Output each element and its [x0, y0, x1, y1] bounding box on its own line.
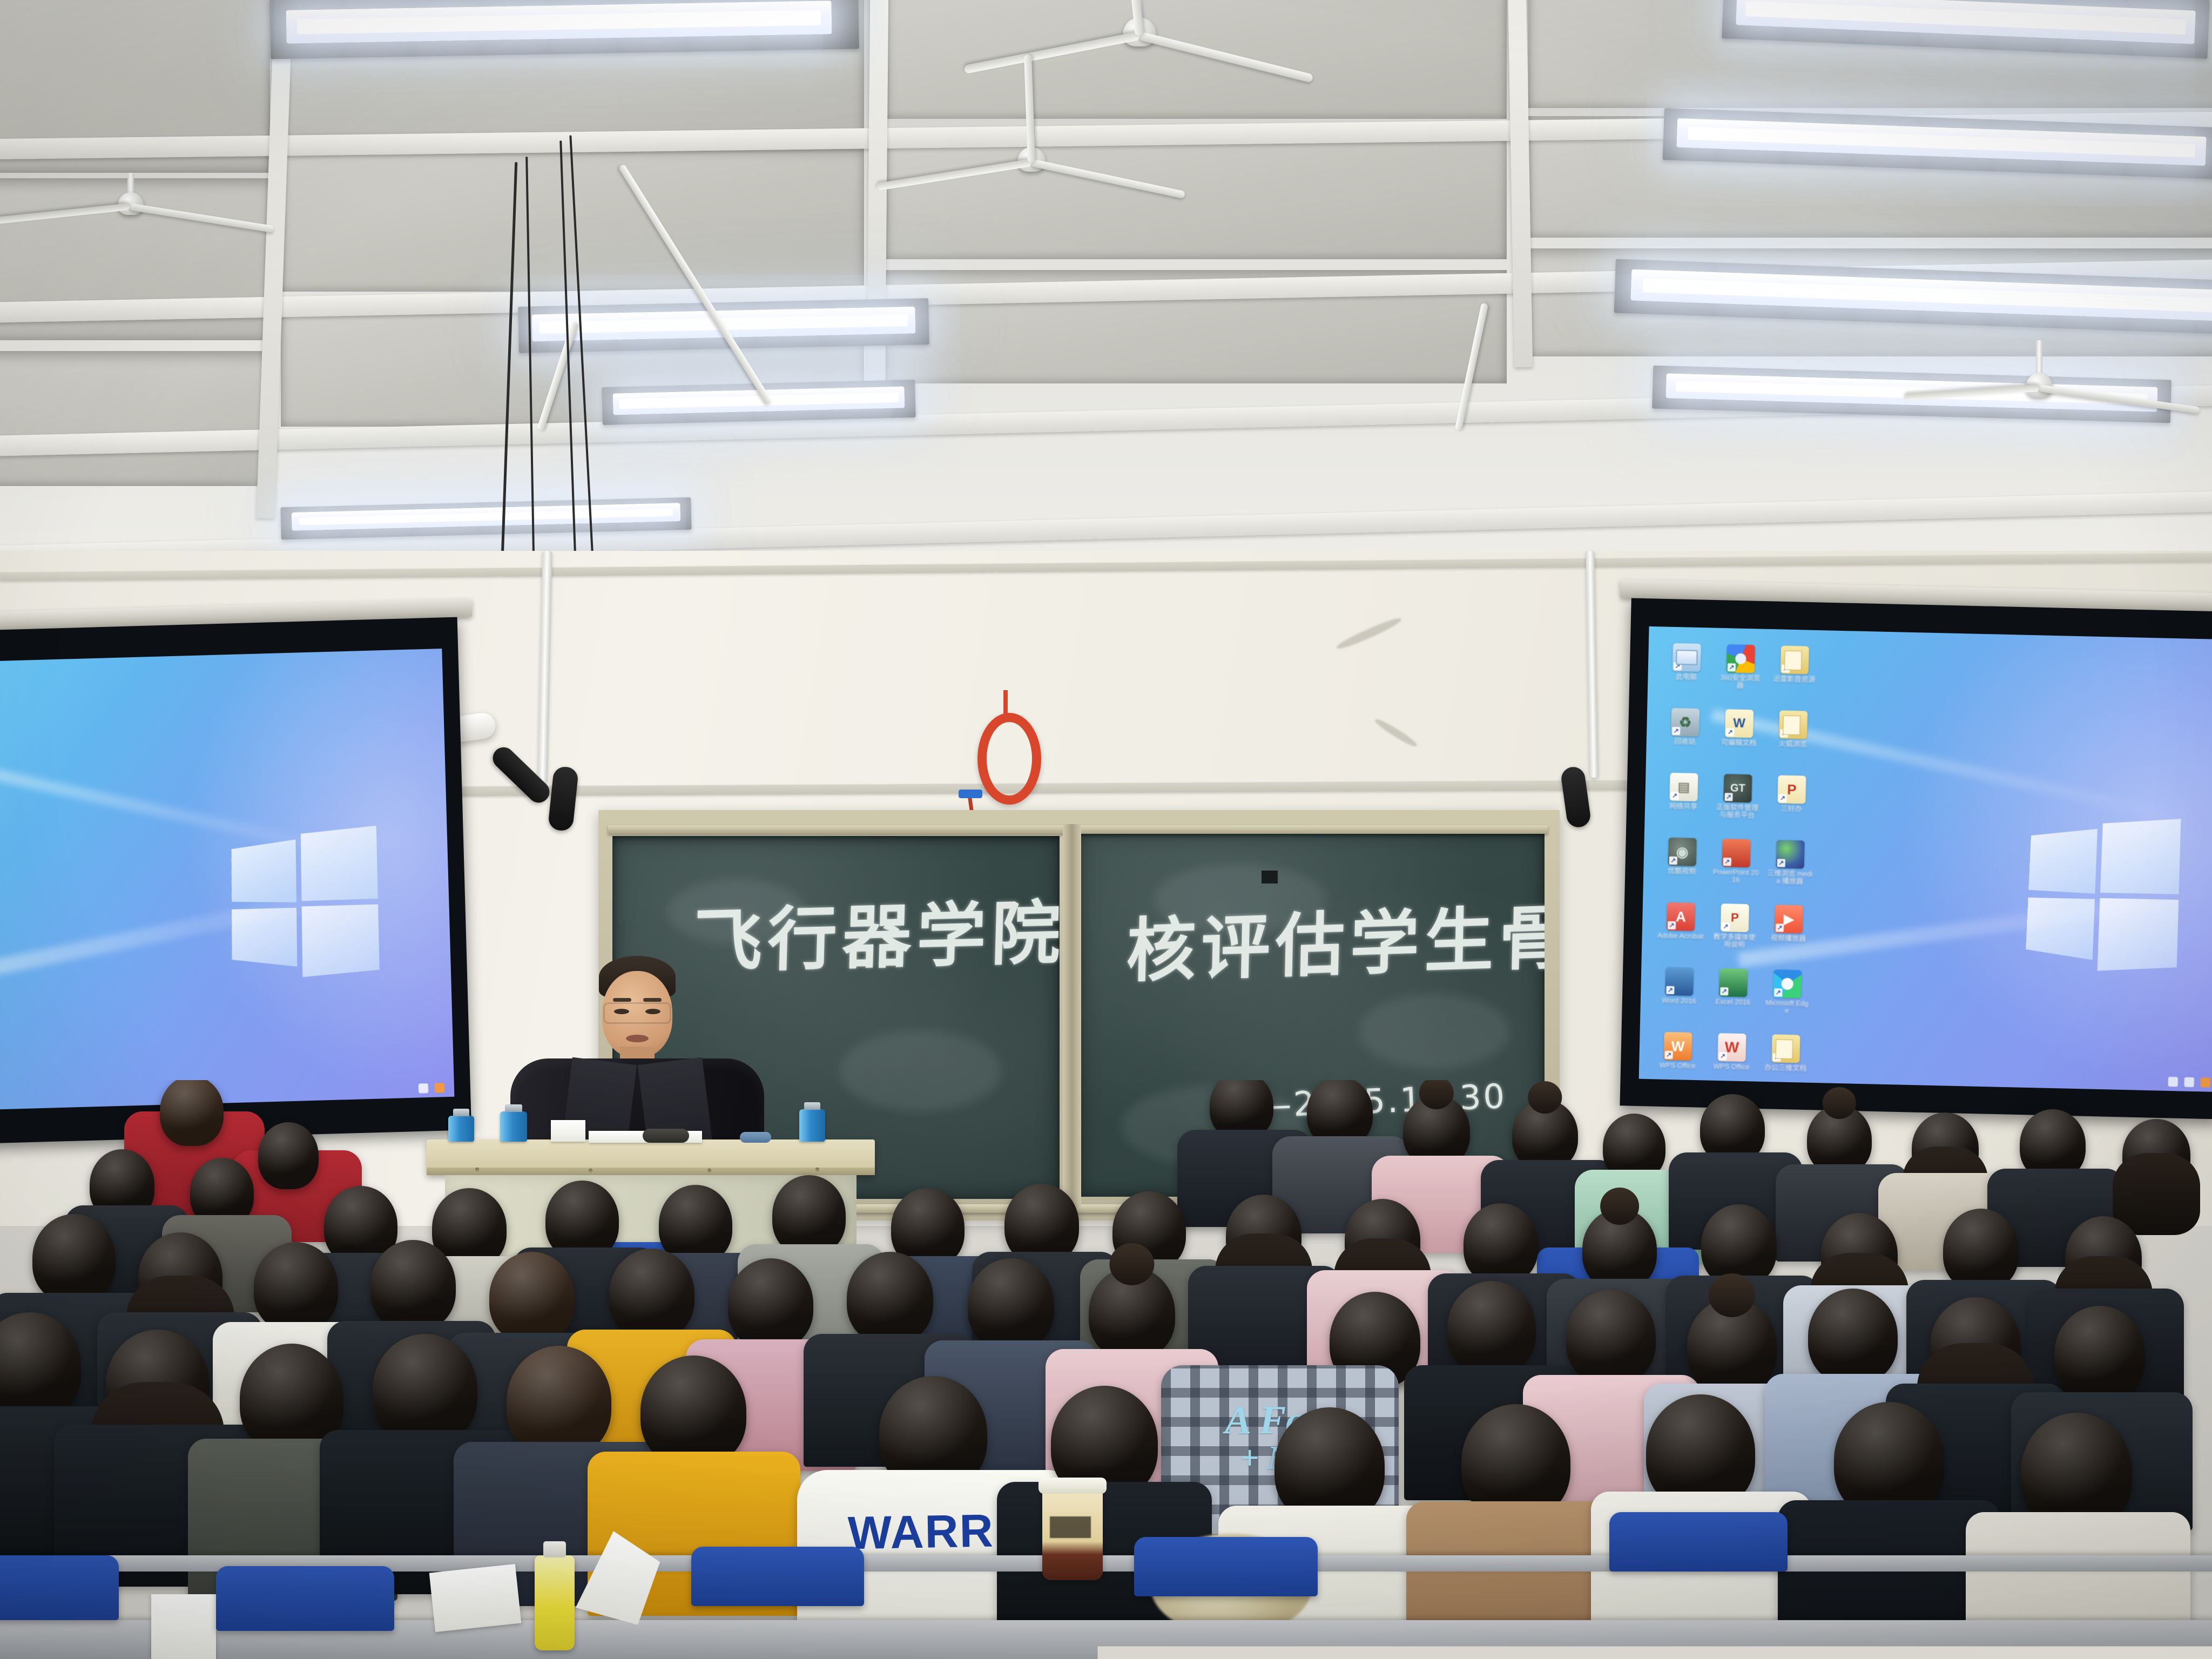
- audience-head: [1566, 1290, 1656, 1385]
- desktop-icon[interactable]: ↗视频播放器: [1764, 905, 1812, 968]
- windows-logo-icon: [2025, 819, 2187, 984]
- audience-head: [370, 1240, 456, 1331]
- desktop-icon-grid[interactable]: ↗此电脑↗360安全浏览器↗迅雷影音资源↗回收站↗可编辑文档↗火狐浏览↗网络共享…: [1654, 643, 1818, 1092]
- lecture-hall-photo: 飞行器学院审 核评估学生骨干动员会 ——2025.10.30: [0, 0, 2212, 1659]
- desktop-icon-label: 视频播放器: [1765, 934, 1811, 943]
- desktop-icon-label: 办公三维文档: [1762, 1064, 1809, 1073]
- ceiling-fan: [0, 173, 248, 248]
- audience-head: [138, 1232, 222, 1322]
- audience-head: [1464, 1203, 1538, 1284]
- shortcut-arrow-icon: ↗: [1782, 664, 1790, 672]
- microphone-icon: [548, 766, 579, 832]
- desktop-icon[interactable]: ↗回收站: [1661, 707, 1709, 771]
- audience-head: [1447, 1281, 1536, 1375]
- presenter-head: [602, 971, 672, 1057]
- desktop-icon[interactable]: ↗此电脑: [1662, 643, 1710, 707]
- film-reel-icon[interactable]: ↗: [1668, 838, 1697, 866]
- audience-head: [1687, 1298, 1777, 1393]
- media-player-icon[interactable]: ↗: [1776, 840, 1805, 868]
- shortcut-arrow-icon: ↗: [1774, 988, 1782, 996]
- presenter-glasses: [603, 1002, 671, 1024]
- desktop-icon[interactable]: ↗优酷视频: [1658, 837, 1706, 901]
- recycle-bin-icon[interactable]: ↗: [1671, 708, 1700, 737]
- microphone-icon: [1560, 765, 1591, 828]
- desktop-icon-label: Microsoft Edge: [1763, 999, 1810, 1015]
- windows-logo-icon: [231, 825, 385, 984]
- fan-blade: [1138, 31, 1313, 83]
- desktop-icon[interactable]: ↗三好办: [1768, 775, 1816, 839]
- pdf-reader-icon[interactable]: ↗: [1667, 902, 1695, 931]
- fan-blade: [876, 159, 1032, 191]
- folder-icon[interactable]: ↗: [1781, 645, 1809, 674]
- wall-scuff: [1335, 615, 1402, 651]
- cable-end: [1003, 690, 1008, 721]
- desktop-icon-label: 网络共享: [1660, 802, 1707, 811]
- chalk-smudge: [1359, 994, 1510, 1069]
- audience-head: [160, 1080, 224, 1146]
- windows-logo-quadrant: [2028, 829, 2098, 894]
- shortcut-arrow-icon: ↗: [1664, 1051, 1673, 1059]
- audience-head: [968, 1258, 1054, 1350]
- shortcut-arrow-icon: ↗: [1777, 859, 1785, 867]
- desktop-icon-label: 可编辑文档: [1716, 739, 1762, 747]
- cup-label: [1050, 1516, 1091, 1538]
- shortcut-arrow-icon: ↗: [1672, 727, 1680, 735]
- audience-head: [640, 1355, 746, 1467]
- chair-back: [1134, 1537, 1318, 1596]
- desktop-icon[interactable]: ↗PowerPoint 2016: [1712, 839, 1760, 902]
- audience-head: [1512, 1100, 1578, 1170]
- wall-scuff: [1373, 717, 1419, 749]
- document-icon[interactable]: ↗: [1779, 710, 1808, 739]
- microphone-pole: [1586, 551, 1598, 778]
- chair-back: [216, 1566, 394, 1631]
- shortcut-arrow-icon: ↗: [1669, 857, 1677, 865]
- desktop-icon-label: 火狐浏览: [1770, 740, 1816, 748]
- chair-back: [1609, 1512, 1788, 1572]
- audience-head: [847, 1252, 933, 1344]
- ppt-card-icon[interactable]: ↗: [1721, 903, 1749, 932]
- ceiling-fan: [864, 124, 1199, 211]
- audience-head: [1943, 1209, 2019, 1291]
- microphone-pole: [537, 551, 552, 783]
- bottle-cap: [543, 1541, 565, 1557]
- audience-head: [32, 1214, 116, 1303]
- ppt-file-icon[interactable]: ↗: [1777, 775, 1806, 804]
- audience-head: [258, 1122, 319, 1189]
- ceiling-fan: [1923, 340, 2212, 421]
- presenter-eye: [645, 1009, 660, 1014]
- bubble-tea-cup: [1042, 1488, 1103, 1580]
- wps-flame-icon[interactable]: ↗: [1663, 1032, 1692, 1061]
- tissue-pack: [429, 1564, 522, 1632]
- desktop-icon[interactable]: ↗教学多媒体使用说明: [1710, 903, 1758, 967]
- left-projection-screen[interactable]: [0, 624, 464, 1137]
- powerpoint-icon[interactable]: ↗: [1722, 839, 1751, 867]
- desktop-icon-label: 迅雷影音资源: [1771, 675, 1817, 684]
- audience-head: [106, 1330, 210, 1439]
- shortcut-arrow-icon: ↗: [1724, 793, 1732, 801]
- audience-head: [1930, 1297, 2021, 1393]
- audience-head: [1582, 1209, 1657, 1290]
- board-hole: [1262, 871, 1278, 884]
- audience-head: [772, 1175, 846, 1255]
- desktop-icon-label: WPS Office: [1654, 1061, 1701, 1070]
- word-document-icon[interactable]: ↗: [1725, 709, 1754, 738]
- gt-platform-icon[interactable]: ↗: [1723, 774, 1752, 802]
- audience-head: [2054, 1306, 2145, 1402]
- shortcut-arrow-icon: ↗: [1666, 986, 1674, 994]
- browser-icon[interactable]: ↗: [1727, 644, 1755, 673]
- presenter-eyebrow: [643, 998, 662, 1002]
- desktop-icon-label: 教学多媒体使用说明: [1711, 933, 1758, 949]
- chair-back: [0, 1555, 119, 1620]
- yellow-drink-bottle: [535, 1555, 575, 1650]
- network-share-icon[interactable]: ↗: [1669, 773, 1698, 801]
- desktop-icon[interactable]: ↗Word 2016: [1655, 967, 1703, 1030]
- audience-head: [373, 1334, 477, 1445]
- ceiling: [0, 0, 2212, 572]
- desktop-icon-label: PowerPoint 2016: [1712, 868, 1759, 885]
- audience-head: [1808, 1289, 1898, 1384]
- desktop-icon[interactable]: ↗Excel 2016: [1709, 968, 1757, 1032]
- shortcut-arrow-icon: ↗: [1726, 728, 1734, 736]
- shortcut-arrow-icon: ↗: [1668, 921, 1676, 929]
- shortcut-arrow-icon: ↗: [1722, 922, 1730, 930]
- wall-trim: [0, 553, 2212, 581]
- desktop-icon-label: 正版软件管理与服务平台: [1714, 804, 1761, 820]
- shortcut-arrow-icon: ↗: [1720, 987, 1728, 995]
- windows-logo-quadrant: [2100, 819, 2181, 894]
- fan-blade: [2039, 385, 2200, 414]
- windows-logo-quadrant: [301, 826, 378, 901]
- tissue-pack: [151, 1594, 216, 1659]
- shortcut-arrow-icon: ↗: [1776, 923, 1784, 932]
- shortcut-arrow-icon: ↗: [1670, 792, 1678, 800]
- this-pc-icon[interactable]: ↗: [1673, 643, 1701, 672]
- desktop-icon-label: Excel 2016: [1710, 998, 1756, 1007]
- audience-head: [728, 1258, 813, 1349]
- ceiling-fan: [950, 0, 1328, 86]
- cup-lid: [1038, 1478, 1107, 1494]
- desktop-icon[interactable]: ↗360安全浏览器: [1716, 644, 1764, 708]
- word-icon[interactable]: ↗: [1665, 967, 1694, 996]
- excel-icon[interactable]: ↗: [1719, 968, 1748, 997]
- desktop-icon-label: 三维浏览 media 播放器: [1766, 869, 1813, 886]
- audience-seating: A Fam + No WARRIORS: [0, 1080, 2212, 1659]
- windows-logo-quadrant: [302, 905, 380, 979]
- audience-head: [659, 1185, 732, 1264]
- desktop-icon-label: 优酷视频: [1658, 867, 1705, 875]
- audience-head: [2065, 1216, 2142, 1299]
- audience-head: [1807, 1105, 1872, 1174]
- desktop-icon-label: 三好办: [1768, 805, 1815, 813]
- desktop-icon-label: 回收站: [1662, 737, 1708, 746]
- shortcut-arrow-icon: ↗: [1728, 663, 1736, 671]
- right-screen-surface[interactable]: ↗此电脑↗360安全浏览器↗迅雷影音资源↗回收站↗可编辑文档↗火狐浏览↗网络共享…: [1639, 626, 2212, 1092]
- desktop-icon[interactable]: ↗三维浏览 media 播放器: [1766, 840, 1814, 903]
- audience-head: [254, 1242, 338, 1332]
- desktop-icon[interactable]: ↗火狐浏览: [1769, 710, 1817, 774]
- shortcut-arrow-icon: ↗: [1674, 662, 1682, 670]
- desktop-icon-label: Adobe Acrobat: [1657, 932, 1704, 940]
- presenter-mouth: [626, 1035, 649, 1042]
- shortcut-arrow-icon: ↗: [1780, 729, 1788, 737]
- windows-logo-quadrant: [232, 840, 296, 905]
- ceiling-coffer: [0, 351, 270, 486]
- desktop-icon[interactable]: ↗可编辑文档: [1715, 709, 1763, 773]
- desktop-icon-label: 360安全浏览器: [1717, 674, 1764, 690]
- shortcut-arrow-icon: ↗: [1772, 1053, 1781, 1061]
- document-folder-icon[interactable]: ↗: [1771, 1034, 1800, 1063]
- video-player-icon[interactable]: ↗: [1775, 905, 1803, 933]
- desktop-icon-label: 此电脑: [1663, 673, 1709, 682]
- chair-back: [691, 1547, 864, 1606]
- presenter-eye: [614, 1009, 629, 1014]
- fan-blade: [1031, 159, 1186, 199]
- audience-head: [2122, 1119, 2190, 1190]
- desktop-icon[interactable]: ↗Adobe Acrobat: [1656, 902, 1704, 966]
- desktop-icon[interactable]: ↗Microsoft Edge: [1763, 969, 1811, 1033]
- desktop-icon[interactable]: ↗迅雷影音资源: [1770, 645, 1818, 709]
- audience-head: [507, 1346, 611, 1457]
- fan-blade: [1904, 385, 2039, 401]
- presenter-eyebrow: [613, 998, 631, 1002]
- audience-head: [1089, 1267, 1175, 1359]
- windows-logo-quadrant: [2025, 898, 2095, 964]
- audience-head: [489, 1252, 575, 1343]
- desktop-icon-label: Word 2016: [1656, 996, 1702, 1005]
- desktop-icon-label: WPS Office: [1708, 1063, 1755, 1071]
- windows-logo-quadrant: [232, 908, 297, 970]
- fan-blade: [964, 31, 1141, 74]
- desktop-icon[interactable]: ↗正版软件管理与服务平台: [1714, 774, 1762, 838]
- edge-icon[interactable]: ↗: [1773, 969, 1802, 998]
- audience-head: [1226, 1195, 1301, 1276]
- audience-head: [1821, 1213, 1898, 1296]
- audience-head: [609, 1249, 694, 1339]
- shortcut-arrow-icon: ↗: [1778, 794, 1786, 802]
- left-screen-surface[interactable]: [0, 649, 454, 1110]
- audience-head: [1345, 1199, 1420, 1281]
- desktop-icon[interactable]: ↗网络共享: [1660, 772, 1708, 836]
- wps-w-icon[interactable]: ↗: [1717, 1033, 1746, 1062]
- cable-tie: [959, 790, 982, 798]
- windows-logo-quadrant: [2098, 898, 2179, 976]
- shortcut-arrow-icon: ↗: [1718, 1052, 1727, 1060]
- coiled-cable: [977, 713, 1041, 805]
- right-projection-screen[interactable]: ↗此电脑↗360安全浏览器↗迅雷影音资源↗回收站↗可编辑文档↗火狐浏览↗网络共享…: [1626, 605, 2212, 1112]
- shortcut-arrow-icon: ↗: [1723, 858, 1731, 866]
- fan-blade: [0, 203, 130, 226]
